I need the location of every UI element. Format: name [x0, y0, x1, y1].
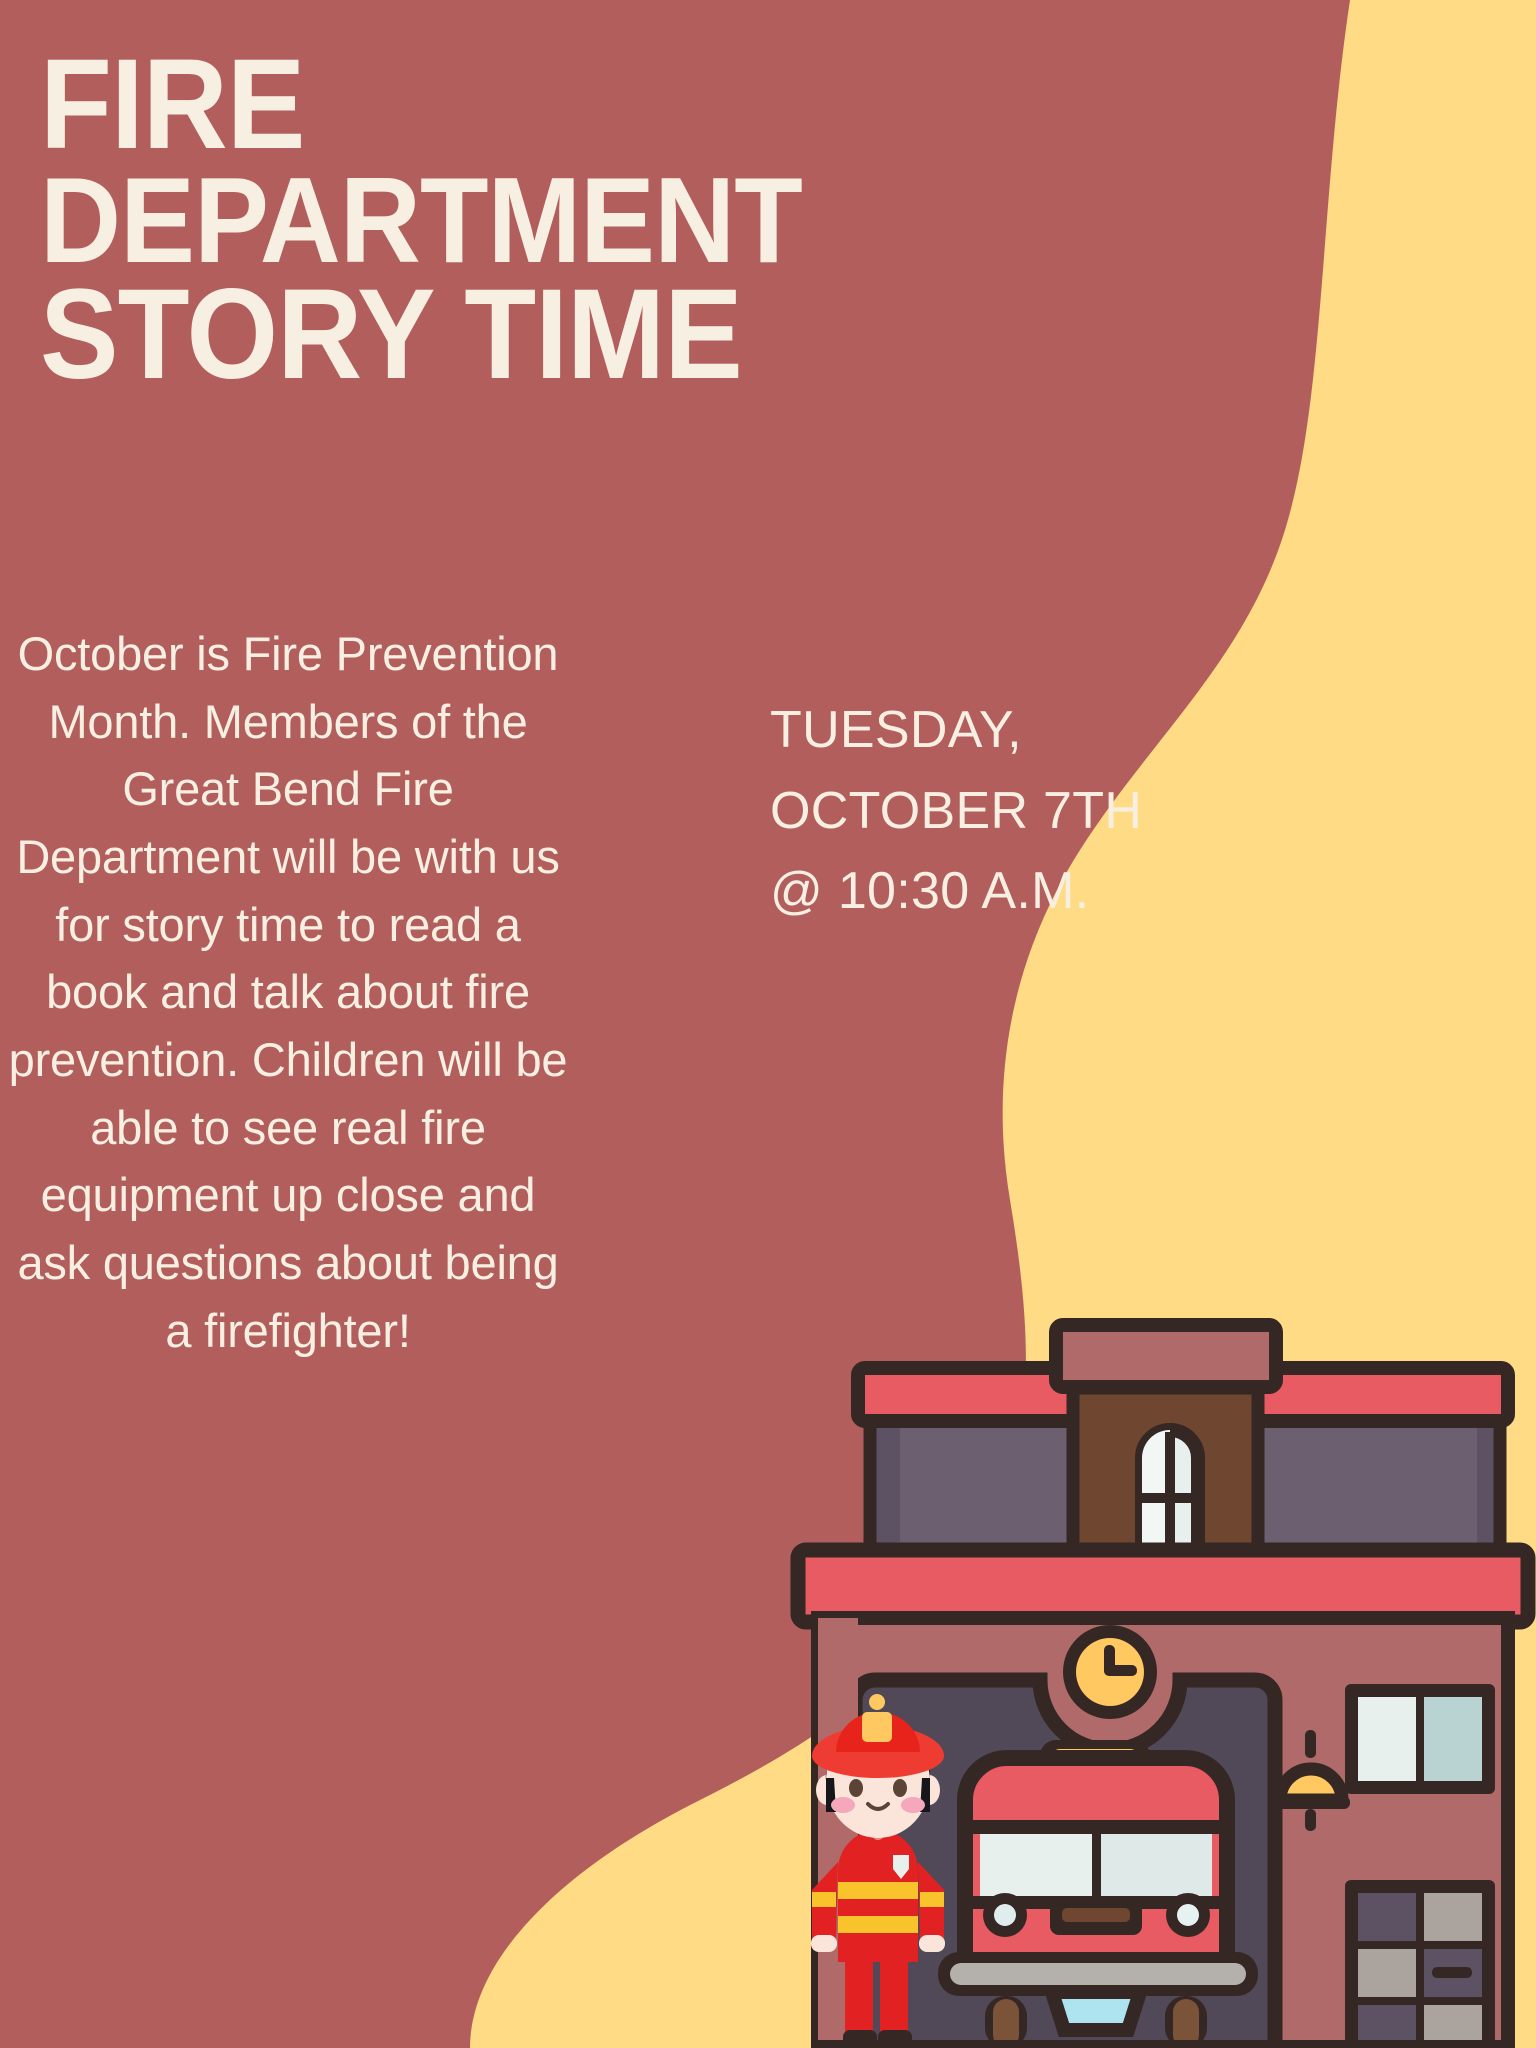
upper-window-pane-right	[1424, 1697, 1482, 1781]
cuff-stripe-right	[920, 1892, 944, 1907]
truck-headlight-left	[994, 1904, 1016, 1926]
clock-hand-minute	[1104, 1665, 1137, 1676]
truck-windshield-divider	[1092, 1834, 1101, 1896]
title-line-department: DEPARTMENT	[40, 164, 914, 276]
upper-window-pane-left	[1358, 1697, 1416, 1781]
uniform-stripe-upper	[838, 1882, 918, 1899]
truck-windshield-left	[980, 1834, 1092, 1896]
truck-skirt-plate	[1052, 1992, 1140, 2030]
ground-line	[818, 2040, 1508, 2048]
leg-left	[845, 1955, 873, 2037]
cheek-right	[901, 1797, 925, 1813]
event-day: TUESDAY,	[770, 690, 1200, 771]
title-line-fire: FIRE	[40, 46, 914, 164]
helmet-badge	[862, 1712, 892, 1742]
event-description: October is Fire Prevention Month. Member…	[8, 620, 568, 1364]
tower-cap	[1056, 1325, 1276, 1387]
uniform-stripe-lower	[838, 1916, 918, 1933]
bell-clapper	[1305, 1809, 1316, 1831]
bell-dome	[1280, 1769, 1342, 1800]
leg-right	[880, 1955, 908, 2037]
hand-right	[919, 1935, 945, 1952]
truck-headlight-right	[1177, 1904, 1199, 1926]
truck-bumper	[950, 1963, 1246, 1985]
station-door[interactable]	[1345, 1880, 1495, 2048]
truck-windshield-right	[1100, 1834, 1212, 1896]
helmet-finial	[869, 1694, 885, 1710]
truck-grille-slat	[1062, 1908, 1130, 1922]
event-time: @ 10:30 A.M.	[770, 851, 1200, 932]
title-line-story-time: STORY TIME	[40, 276, 914, 394]
event-date: OCTOBER 7TH	[770, 771, 1200, 852]
door-panel-1	[1358, 1893, 1416, 1941]
page-title: FIRE DEPARTMENT STORY TIME	[40, 46, 990, 394]
bell-hanger	[1305, 1730, 1316, 1758]
arched-window-mullion-h	[1140, 1493, 1200, 1503]
door-panel-2	[1424, 1893, 1482, 1941]
poster-canvas: FIRE DEPARTMENT STORY TIME October is Fi…	[0, 0, 1536, 2048]
event-datetime: TUESDAY, OCTOBER 7TH @ 10:30 A.M.	[770, 690, 1200, 932]
cheek-left	[831, 1797, 855, 1813]
eye-right	[893, 1779, 907, 1797]
cuff-stripe-left	[812, 1892, 836, 1907]
eye-left	[849, 1779, 863, 1797]
hand-left	[811, 1935, 837, 1952]
door-panel-3	[1358, 1949, 1416, 1997]
door-handle[interactable]	[1432, 1967, 1472, 1978]
bell-lip	[1272, 1796, 1350, 1809]
truck-windshield-top-edge	[965, 1820, 1227, 1834]
